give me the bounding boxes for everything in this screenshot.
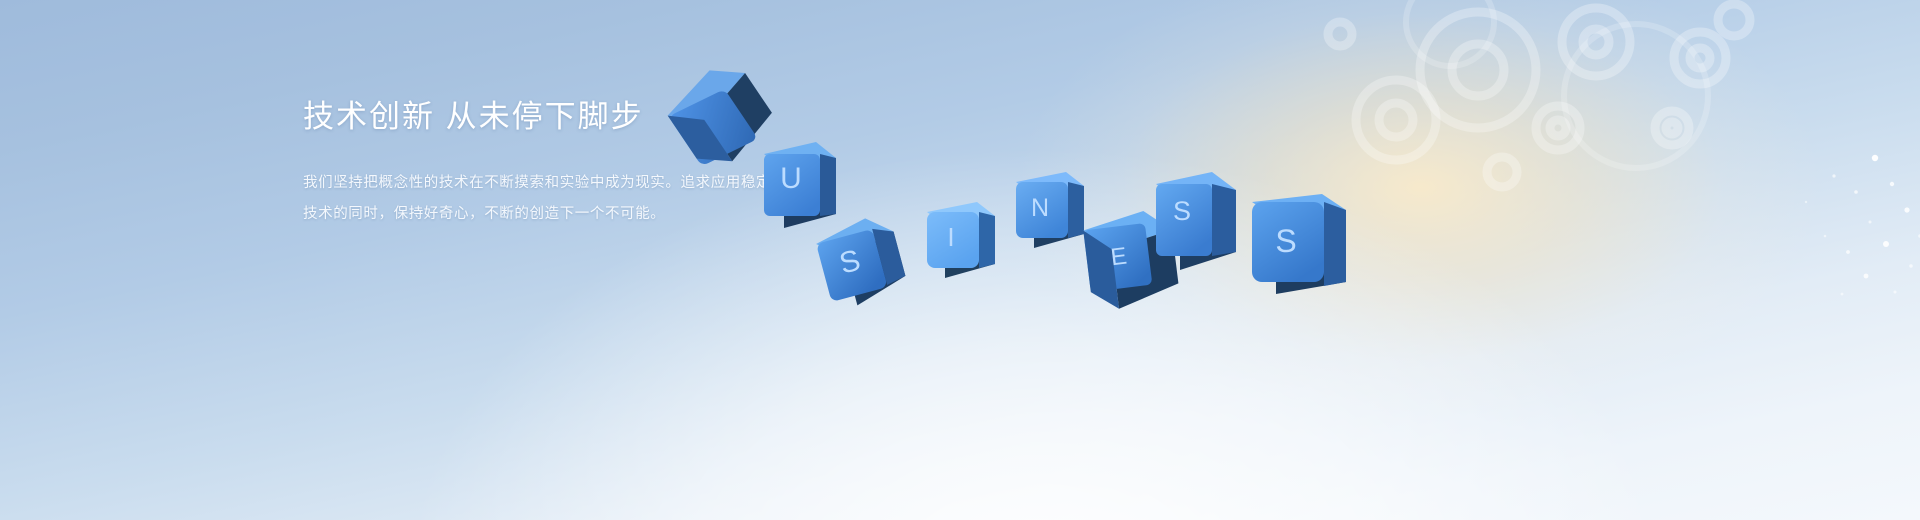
keycap-i-label: I <box>947 222 954 252</box>
page-title: 技术创新 从未停下脚步 <box>303 95 923 139</box>
hero-banner: 技术创新 从未停下脚步 我们坚持把概念性的技术在不断摸索和实验中成为现实。追求应… <box>0 0 1920 520</box>
sparkle-particles-decoration <box>1620 140 1920 340</box>
keycap-e-label: E <box>1109 243 1128 272</box>
keycap-u-label: U <box>780 162 802 195</box>
keycap-cluster: U S <box>0 0 1920 520</box>
keycap-n-label: N <box>1031 194 1049 222</box>
keycap-i[interactable]: I <box>925 200 1025 300</box>
keycap-s-3-label: S <box>1275 223 1296 259</box>
keycap-s-3[interactable]: S <box>1248 190 1378 320</box>
keycap-s-2[interactable]: S <box>1150 168 1260 298</box>
keycap-s-2-label: S <box>1173 196 1191 226</box>
concentric-circles-decoration <box>1300 0 1920 300</box>
